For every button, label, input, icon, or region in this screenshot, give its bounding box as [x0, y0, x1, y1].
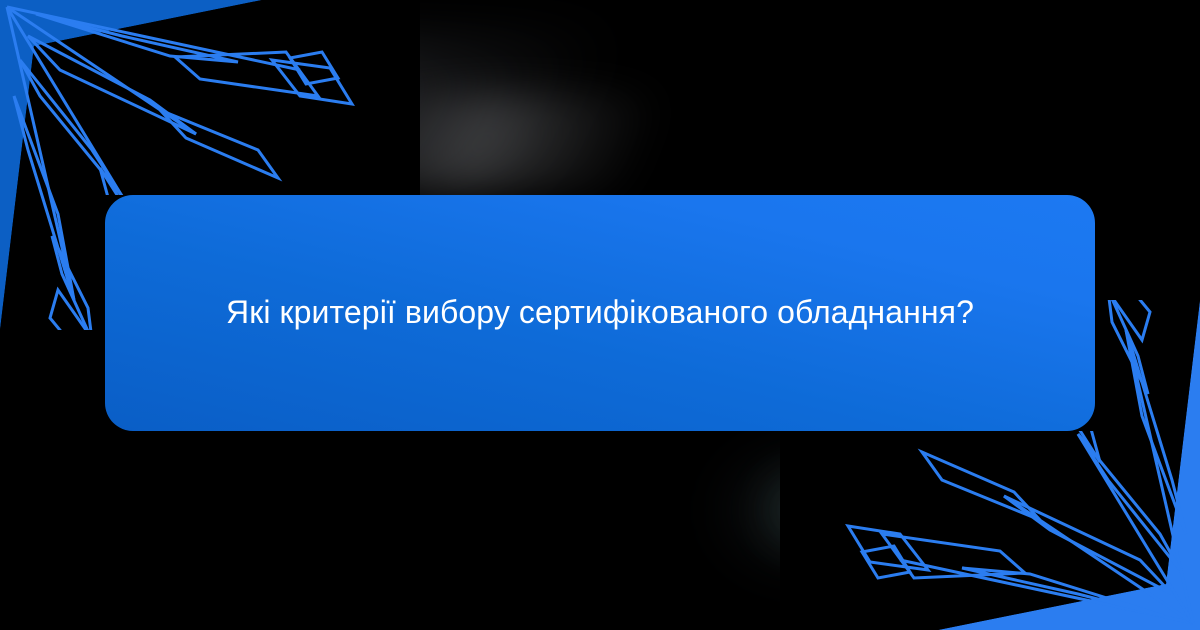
- quote-text: Які критерії вибору сертифікованого обла…: [105, 195, 1095, 431]
- background-smudge-top: [146, 28, 623, 202]
- background-smudge-teal: [760, 455, 930, 565]
- quote-panel: Які критерії вибору сертифікованого обла…: [105, 195, 1095, 431]
- background-smudge-bottom-dim: [700, 430, 910, 590]
- quote-card-canvas: Які критерії вибору сертифікованого обла…: [0, 0, 1200, 630]
- background-smudge-top-highlight: [330, 95, 660, 190]
